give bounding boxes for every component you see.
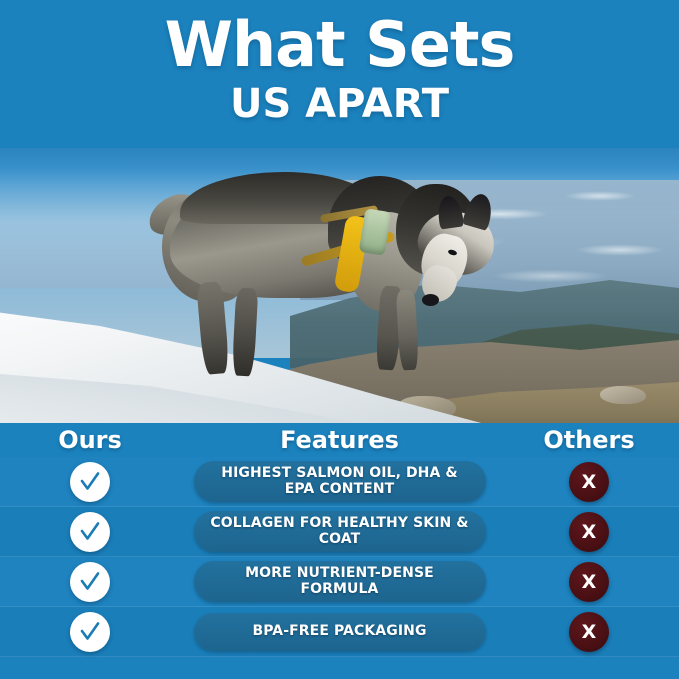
comparison-table: Ours Features Others HIGHEST SALMON OIL,…	[0, 423, 679, 679]
feature-pill: HIGHEST SALMON OIL, DHA & EPA CONTENT	[194, 461, 486, 502]
column-header-ours: Ours	[0, 428, 180, 452]
cell-others: X	[499, 512, 679, 552]
cross-icon: X	[569, 462, 609, 502]
dog-nose	[422, 294, 439, 306]
table-row: COLLAGEN FOR HEALTHY SKIN & COAT X	[0, 507, 679, 557]
cell-feature: HIGHEST SALMON OIL, DHA & EPA CONTENT	[180, 461, 499, 502]
page-title: What Sets	[0, 0, 679, 76]
cell-others: X	[499, 562, 679, 602]
cell-ours	[0, 512, 180, 552]
table-body: HIGHEST SALMON OIL, DHA & EPA CONTENT X …	[0, 457, 679, 657]
check-icon	[70, 612, 110, 652]
table-header-row: Ours Features Others	[0, 423, 679, 457]
cell-ours	[0, 562, 180, 602]
column-header-features: Features	[180, 428, 499, 452]
feature-pill: BPA-FREE PACKAGING	[194, 613, 486, 651]
dog-photo	[0, 128, 679, 424]
check-icon	[70, 562, 110, 602]
hero-photo	[0, 128, 679, 424]
header-banner: What Sets US APART	[0, 0, 679, 148]
cross-icon: X	[569, 512, 609, 552]
husky-dog-icon	[150, 158, 520, 408]
rock-icon	[600, 386, 646, 404]
cell-feature: COLLAGEN FOR HEALTHY SKIN & COAT	[180, 511, 499, 552]
infographic-page: What Sets US APART	[0, 0, 679, 679]
cell-ours	[0, 612, 180, 652]
cell-others: X	[499, 612, 679, 652]
table-row: MORE NUTRIENT-DENSE FORMULA X	[0, 557, 679, 607]
dog-hind-leg	[232, 287, 259, 376]
feature-pill: MORE NUTRIENT-DENSE FORMULA	[194, 561, 486, 602]
table-row: HIGHEST SALMON OIL, DHA & EPA CONTENT X	[0, 457, 679, 507]
check-icon	[70, 462, 110, 502]
column-header-others: Others	[499, 428, 679, 452]
cross-icon: X	[569, 562, 609, 602]
page-subtitle: US APART	[0, 76, 679, 124]
feature-pill: COLLAGEN FOR HEALTHY SKIN & COAT	[194, 511, 486, 552]
cell-feature: BPA-FREE PACKAGING	[180, 613, 499, 651]
cell-others: X	[499, 462, 679, 502]
cell-ours	[0, 462, 180, 502]
dog-front-leg	[396, 290, 419, 371]
check-icon	[70, 512, 110, 552]
table-row: BPA-FREE PACKAGING X	[0, 607, 679, 657]
cell-feature: MORE NUTRIENT-DENSE FORMULA	[180, 561, 499, 602]
cross-icon: X	[569, 612, 609, 652]
